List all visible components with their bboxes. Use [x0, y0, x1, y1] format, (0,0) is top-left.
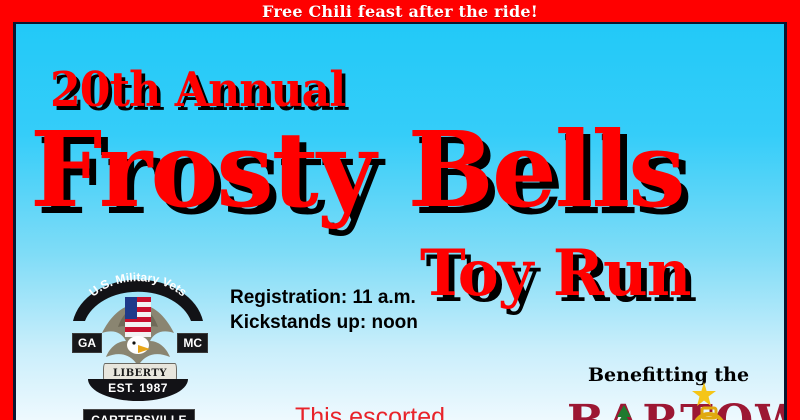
- patch-ga-box: GA: [72, 333, 102, 353]
- bartow-logo: BARTOW: [567, 396, 784, 420]
- gold-ring-icon: [689, 402, 729, 420]
- patch-established-text: EST. 1987: [108, 381, 168, 395]
- club-patch: U.S. Military Vets GA MC: [63, 267, 213, 420]
- poster-field: 20th Annual Frosty Bells Toy Run Registr…: [16, 24, 784, 420]
- registration-time: Registration: 11 a.m.: [230, 285, 418, 310]
- patch-chapter-box: CARTERSVILLE CHAPTER: [83, 409, 195, 420]
- patch-chapter-line1: CARTERSVILLE: [91, 413, 187, 420]
- patch-mc-box: MC: [177, 333, 208, 353]
- patch-liberty-text: LIBERTY: [113, 368, 167, 379]
- patch-established-rocker: EST. 1987: [88, 379, 188, 401]
- headline-sub: Toy Run: [420, 242, 690, 306]
- escorted-note-line1: This escorted: [295, 402, 445, 420]
- escorted-note: This escorted ride starts at: [295, 402, 445, 420]
- top-banner: Free Chili feast after the ride!: [0, 0, 800, 22]
- event-times: Registration: 11 a.m. Kickstands up: noo…: [230, 285, 418, 335]
- headline-main: Frosty Bells: [30, 118, 684, 222]
- benefitting-label: Benefitting the: [588, 364, 749, 386]
- kickstands-time: Kickstands up: noon: [230, 310, 418, 335]
- top-banner-text: Free Chili feast after the ride!: [262, 2, 538, 21]
- christmas-tree-icon: [611, 404, 637, 420]
- headline-annual: 20th Annual: [50, 66, 345, 114]
- bartow-logo-text: BARTOW: [567, 400, 784, 420]
- poster-canvas: Free Chili feast after the ride! 20th An…: [0, 0, 800, 420]
